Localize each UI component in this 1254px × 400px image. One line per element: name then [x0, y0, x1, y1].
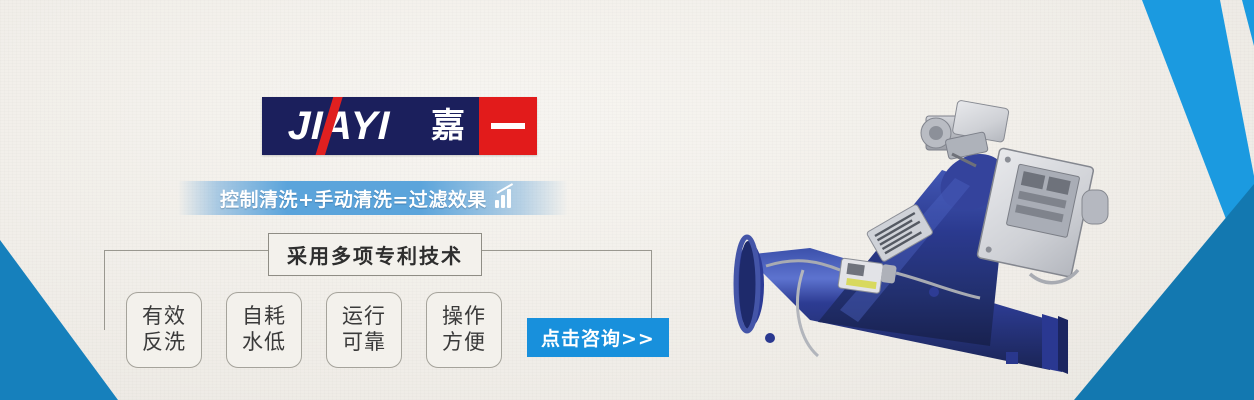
growth-arrow-icon: [497, 188, 517, 208]
promo-banner: JIAYI 嘉 控制清洗+手动清洗=过滤效果 采用多项专利技术 有效 反洗 自耗…: [0, 0, 1254, 400]
feature-item-1-line1: 有效: [142, 304, 186, 330]
feature-item-1-line2: 反洗: [142, 330, 186, 356]
feature-item-3[interactable]: 运行 可靠: [326, 292, 402, 368]
feature-item-3-line1: 运行: [342, 304, 386, 330]
tagline-bar: 控制清洗+手动清洗=过滤效果: [178, 181, 568, 215]
logo-latin-block: JIAYI: [262, 97, 417, 155]
feature-item-2[interactable]: 自耗 水低: [226, 292, 302, 368]
tagline-text: 控制清洗+手动清洗=过滤效果: [220, 185, 487, 212]
feature-item-3-line2: 可靠: [342, 330, 386, 356]
feature-item-4-line2: 方便: [442, 330, 486, 356]
feature-item-1[interactable]: 有效 反洗: [126, 292, 202, 368]
feature-list: 有效 反洗 自耗 水低 运行 可靠 操作 方便: [126, 292, 502, 368]
feature-item-4[interactable]: 操作 方便: [426, 292, 502, 368]
logo-red-block: [479, 97, 537, 155]
feature-item-4-line1: 操作: [442, 304, 486, 330]
product-image: [690, 70, 1120, 400]
feature-item-2-line2: 水低: [242, 330, 286, 356]
logo-red-block-bar-icon: [491, 123, 525, 129]
brand-logo[interactable]: JIAYI 嘉: [262, 97, 537, 155]
consult-cta-button[interactable]: 点击咨询>>: [527, 318, 669, 357]
feature-item-2-line1: 自耗: [242, 304, 286, 330]
logo-latin-text: JIAYI: [288, 106, 391, 146]
patent-title-box: 采用多项专利技术: [268, 233, 482, 276]
logo-chinese-char: 嘉: [417, 97, 479, 155]
